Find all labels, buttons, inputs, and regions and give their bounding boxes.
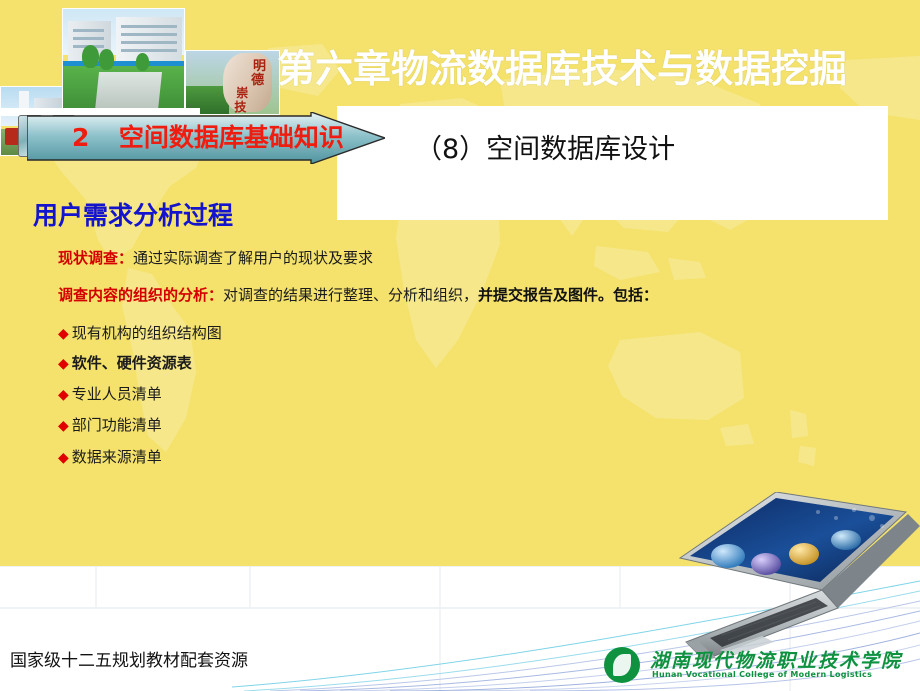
paragraph-sep-1: ： <box>118 249 133 267</box>
bullet-label-4: 部门功能清单 <box>72 416 162 434</box>
subtitle-text: （8）空间数据库设计 <box>415 127 675 166</box>
paragraph-text-2: 对调查的结果进行整理、分析和组织， <box>223 286 478 304</box>
diamond-bullet-icon: ◆ <box>58 356 69 372</box>
subtitle-panel: （8）空间数据库设计 <box>337 106 888 220</box>
laptop-illustration <box>676 492 920 662</box>
chapter-banner-arrow[interactable]: 2 空间数据库基础知识 <box>27 112 385 164</box>
slide-title: 第六章物流数据库技术与数据挖掘 <box>277 38 847 93</box>
logo-leaf-icon <box>604 647 640 683</box>
chapter-number: 2 <box>72 123 89 152</box>
diamond-bullet-icon: ◆ <box>58 450 69 466</box>
paragraph-sep-2: ： <box>208 286 223 304</box>
footer-caption: 国家级十二五规划教材配套资源 <box>10 646 248 671</box>
bullet-item-2: ◆软件、硬件资源表 <box>58 352 192 373</box>
chapter-banner-label: 2 空间数据库基础知识 <box>72 122 344 154</box>
diamond-bullet-icon: ◆ <box>58 387 69 403</box>
stone-monument-photo: 明 德 崇 技 <box>185 50 280 115</box>
bullet-label-1: 现有机构的组织结构图 <box>72 324 222 342</box>
campus-building-photo <box>62 8 185 111</box>
paragraph-text-1: 通过实际调查了解用户的现状及要求 <box>133 249 373 267</box>
paragraph-current-survey: 现状调查：通过实际调查了解用户的现状及要求 <box>58 248 373 268</box>
paragraph-key-1: 现状调查 <box>58 249 118 267</box>
chapter-title: 空间数据库基础知识 <box>119 123 344 152</box>
bullet-label-5: 数据来源清单 <box>72 448 162 466</box>
logo-name-en: Hunan Vocational College of Modern Logis… <box>652 670 872 679</box>
slide-canvas: 明 德 崇 技 第六章物流数据库技术与数据挖掘 （8）空间数据库设计 2 空间数… <box>0 0 920 691</box>
diamond-bullet-icon: ◆ <box>58 326 69 342</box>
paragraph-text-2-bold: 并提交报告及图件。包括： <box>478 286 658 304</box>
bullet-label-3: 专业人员清单 <box>72 385 162 403</box>
college-logo: 湖南现代物流职业技术学院 Hunan Vocational College of… <box>604 645 916 687</box>
bullet-item-5: ◆数据来源清单 <box>58 446 162 467</box>
bullet-item-4: ◆部门功能清单 <box>58 414 162 435</box>
paragraph-key-2: 调查内容的组织的分析 <box>58 286 208 304</box>
bullet-item-3: ◆专业人员清单 <box>58 383 162 404</box>
logo-name-cn: 湖南现代物流职业技术学院 <box>650 646 902 673</box>
section-heading: 用户需求分析过程 <box>33 196 233 232</box>
paragraph-content-analysis: 调查内容的组织的分析：对调查的结果进行整理、分析和组织，并提交报告及图件。包括： <box>58 285 658 305</box>
diamond-bullet-icon: ◆ <box>58 418 69 434</box>
bullet-item-1: ◆现有机构的组织结构图 <box>58 322 222 343</box>
bullet-label-2: 软件、硬件资源表 <box>72 354 192 372</box>
stone-char-2: 德 <box>251 69 264 88</box>
